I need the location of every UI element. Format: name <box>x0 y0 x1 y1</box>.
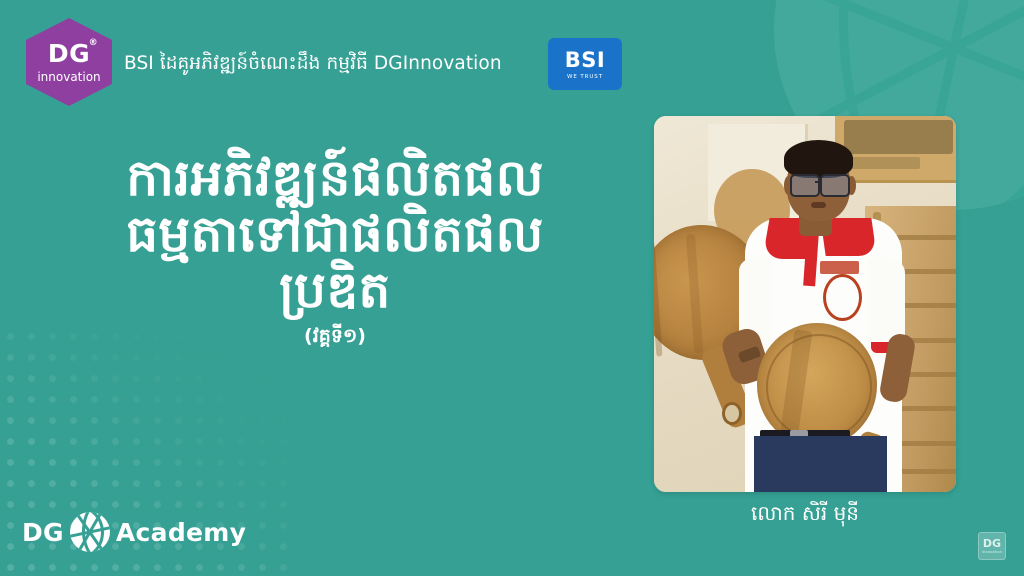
speaker-name-caption: លោក សិរី មុនី <box>654 500 956 530</box>
dg-logo-sub: innovation <box>37 71 100 83</box>
dg-academy-logo: DG Academy <box>22 512 246 552</box>
title-subtitle: (វគ្គទី១) <box>40 324 630 352</box>
academy-label: Academy <box>116 518 246 547</box>
speaker-photo <box>654 116 956 492</box>
dg-badge-sub: innovation <box>982 551 1002 554</box>
bsi-swoosh-icon <box>556 78 614 90</box>
title-block: ការអភិវឌ្ឍន៍ផលិតផល ធម្មតាទៅជាផលិតផល ប្រឌ… <box>40 150 630 352</box>
dg-watermark-badge: DG innovation <box>978 532 1006 560</box>
dg-badge-main: DG <box>983 538 1001 549</box>
bsi-logo: BSI WE TRUST <box>548 38 622 90</box>
slide-canvas: DG® innovation BSI ដៃគូអភិវឌ្ឍន៍ចំណេះដឹង… <box>0 0 1024 576</box>
academy-prefix: DG <box>22 518 64 547</box>
slide-header: DG® innovation BSI ដៃគូអភិវឌ្ឍន៍ចំណេះដឹង… <box>0 0 1024 112</box>
title-line-3: ប្រឌិត <box>40 262 630 318</box>
bsi-logo-main: BSI <box>565 50 605 71</box>
registered-mark-icon: ® <box>89 39 99 48</box>
academy-globe-icon <box>70 512 110 552</box>
header-title: BSI ដៃគូអភិវឌ្ឍន៍ចំណេះដឹង កម្មវិធី DGInn… <box>124 52 502 79</box>
dg-logo-main: DG® <box>48 41 90 66</box>
dg-innovation-logo: DG® innovation <box>26 18 112 106</box>
title-line-2: ធម្មតាទៅជាផលិតផល <box>40 206 630 262</box>
title-line-1: ការអភិវឌ្ឍន៍ផលិតផល <box>40 150 630 206</box>
